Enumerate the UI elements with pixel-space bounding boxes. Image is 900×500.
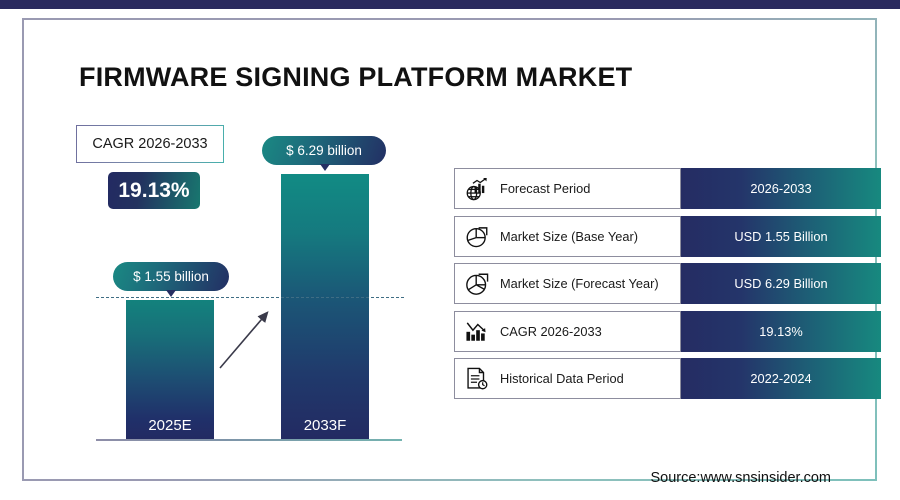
table-row-label-cell: Market Size (Base Year) (454, 216, 681, 257)
summary-table: Forecast Period 2026-2033 Market Size (B… (454, 168, 881, 406)
bar-category-label-2025: 2025E (126, 417, 214, 434)
table-row-label-cell: Forecast Period (454, 168, 681, 209)
reference-dashed-line (96, 297, 404, 298)
table-row-value: 2022-2024 (681, 358, 881, 399)
document-clock-icon (464, 366, 490, 392)
table-row: Forecast Period 2026-2033 (454, 168, 881, 209)
table-row: Market Size (Base Year) USD 1.55 Billion (454, 216, 881, 257)
growth-arrow-icon (214, 302, 278, 374)
bar-value-pill-2033: $ 6.29 billion (262, 136, 386, 165)
bar-2033 (281, 174, 369, 440)
table-row: Historical Data Period 2022-2024 (454, 358, 881, 399)
bar-category-label-2033: 2033F (281, 417, 369, 434)
table-row-label-cell: Market Size (Forecast Year) (454, 263, 681, 304)
bar-chart-trend-icon (464, 318, 490, 344)
bar-value-label-2025: $ 1.55 billion (133, 269, 209, 284)
table-row-label: Market Size (Forecast Year) (500, 276, 659, 291)
table-row-value: USD 6.29 Billion (681, 263, 881, 304)
table-row: CAGR 2026-2033 19.13% (454, 311, 881, 352)
table-row-value: 19.13% (681, 311, 881, 352)
bar-value-label-2033: $ 6.29 billion (286, 143, 362, 158)
table-row: Market Size (Forecast Year) USD 6.29 Bil… (454, 263, 881, 304)
bar-value-pill-2025: $ 1.55 billion (113, 262, 229, 291)
table-row-value: 2026-2033 (681, 168, 881, 209)
table-row-label: Market Size (Base Year) (500, 229, 638, 244)
table-row-label-cell: CAGR 2026-2033 (454, 311, 681, 352)
infographic-card: FIRMWARE SIGNING PLATFORM MARKET CAGR 20… (22, 18, 877, 481)
bar-value-pill-pointer-2025 (166, 290, 176, 297)
table-row-label: CAGR 2026-2033 (500, 324, 602, 339)
globe-growth-chart-icon (464, 176, 490, 202)
chart-baseline-axis (96, 439, 402, 441)
table-row-label: Historical Data Period (500, 371, 624, 386)
table-row-label: Forecast Period (500, 181, 590, 196)
table-row-value: USD 1.55 Billion (681, 216, 881, 257)
bar-value-pill-pointer-2033 (320, 164, 330, 171)
table-row-label-cell: Historical Data Period (454, 358, 681, 399)
pie-chart-segmented-icon (464, 271, 490, 297)
pie-chart-exploded-icon (464, 223, 490, 249)
top-accent-bar (0, 0, 900, 9)
bar-chart: $ 6.29 billion 2033F $ 1.55 billion 2025… (24, 20, 444, 483)
source-attribution: Source:www.snsinsider.com (650, 470, 831, 486)
